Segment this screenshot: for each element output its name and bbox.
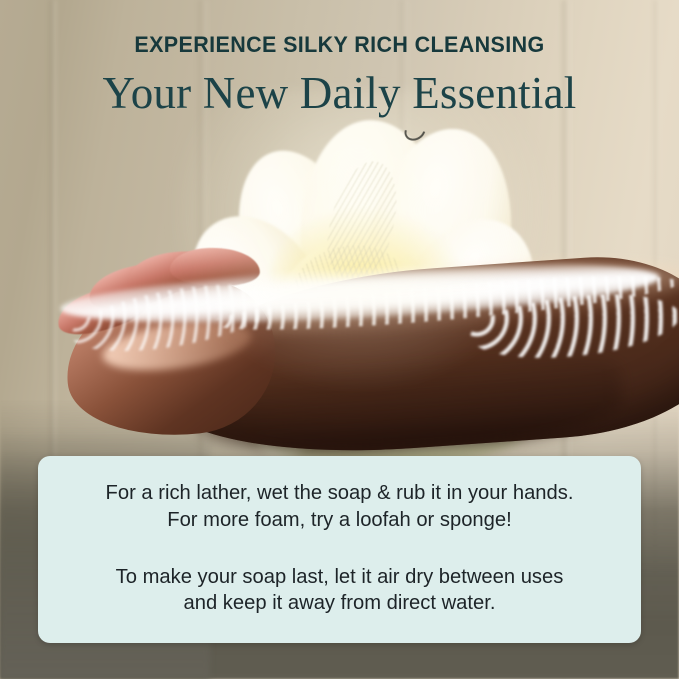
tip-line: To make your soap last, let it air dry b… (116, 564, 564, 591)
page-title: Your New Daily Essential (0, 69, 679, 118)
tip-paragraph-one: For a rich lather, wet the soap & rub it… (106, 480, 574, 534)
tip-paragraph-two: To make your soap last, let it air dry b… (116, 564, 564, 618)
usage-tips-card: For a rich lather, wet the soap & rub it… (38, 456, 641, 643)
infographic-canvas: EXPERIENCE SILKY RICH CLEANSING Your New… (0, 0, 679, 679)
tip-line: and keep it away from direct water. (116, 590, 564, 617)
heading-block: EXPERIENCE SILKY RICH CLEANSING Your New… (0, 34, 679, 117)
tip-line: For a rich lather, wet the soap & rub it… (106, 480, 574, 507)
forearm-and-hand (42, 250, 679, 460)
eyebrow-heading: EXPERIENCE SILKY RICH CLEANSING (15, 34, 663, 57)
tip-line: For more foam, try a loofah or sponge! (106, 507, 574, 534)
